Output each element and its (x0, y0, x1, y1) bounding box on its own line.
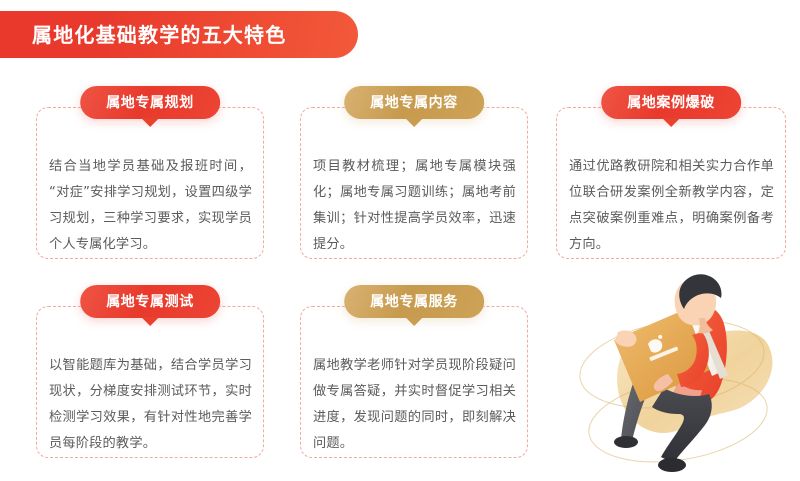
feature-card-grid: 属地专属规划 结合当地学员基础及报班时间，“对症”安排学习规划，设置四级学习规划… (0, 82, 800, 481)
feature-card-body: 属地教学老师针对学员现阶段疑问做专属答疑，并实时督促学习相关进度，发现问题的同时… (313, 353, 516, 457)
feature-card[interactable]: 属地专属规划 结合当地学员基础及报班时间，“对症”安排学习规划，设置四级学习规划… (36, 107, 264, 259)
feature-card-body: 结合当地学员基础及报班时间，“对症”安排学习规划，设置四级学习规划，三种学习要求… (49, 154, 252, 258)
feature-card-body: 以智能题库为基础，结合学员学习现状，分梯度安排测试环节，实时检测学习效果，有针对… (49, 353, 252, 457)
page-title: 属地化基础教学的五大特色 (32, 25, 286, 45)
feature-card[interactable]: 属地专属测试 以智能题库为基础，结合学员学习现状，分梯度安排测试环节，实时检测学… (36, 306, 264, 458)
feature-card-badge-label: 属地专属服务 (370, 295, 458, 309)
feature-card-body: 通过优路教研院和相关实力合作单位联合研发案例全新教学内容，定点突破案例重难点，明… (569, 154, 774, 258)
feature-card-badge-label: 属地专属内容 (370, 96, 458, 110)
feature-card-badge: 属地专属规划 (80, 86, 220, 119)
feature-card[interactable]: 属地专属内容 项目教材梳理；属地专属模块强化；属地专属习题训练；属地考前集训；针… (300, 107, 528, 259)
feature-card-badge: 属地案例爆破 (601, 86, 741, 119)
feature-card-body: 项目教材梳理；属地专属模块强化；属地专属习题训练；属地考前集训；针对性提高学员效… (313, 154, 516, 258)
feature-card-badge: 属地专属服务 (344, 285, 484, 318)
feature-card-badge-label: 属地案例爆破 (627, 96, 715, 110)
feature-card-badge-label: 属地专属规划 (106, 96, 194, 110)
feature-card[interactable]: 属地专属服务 属地教学老师针对学员现阶段疑问做专属答疑，并实时督促学习相关进度，… (300, 306, 528, 458)
feature-card-badge: 属地专属内容 (344, 86, 484, 119)
feature-card-badge-label: 属地专属测试 (106, 295, 194, 309)
page-header-banner: 属地化基础教学的五大特色 (0, 11, 358, 58)
feature-card[interactable]: 属地案例爆破 通过优路教研院和相关实力合作单位联合研发案例全新教学内容，定点突破… (556, 107, 786, 259)
feature-card-badge: 属地专属测试 (80, 285, 220, 318)
